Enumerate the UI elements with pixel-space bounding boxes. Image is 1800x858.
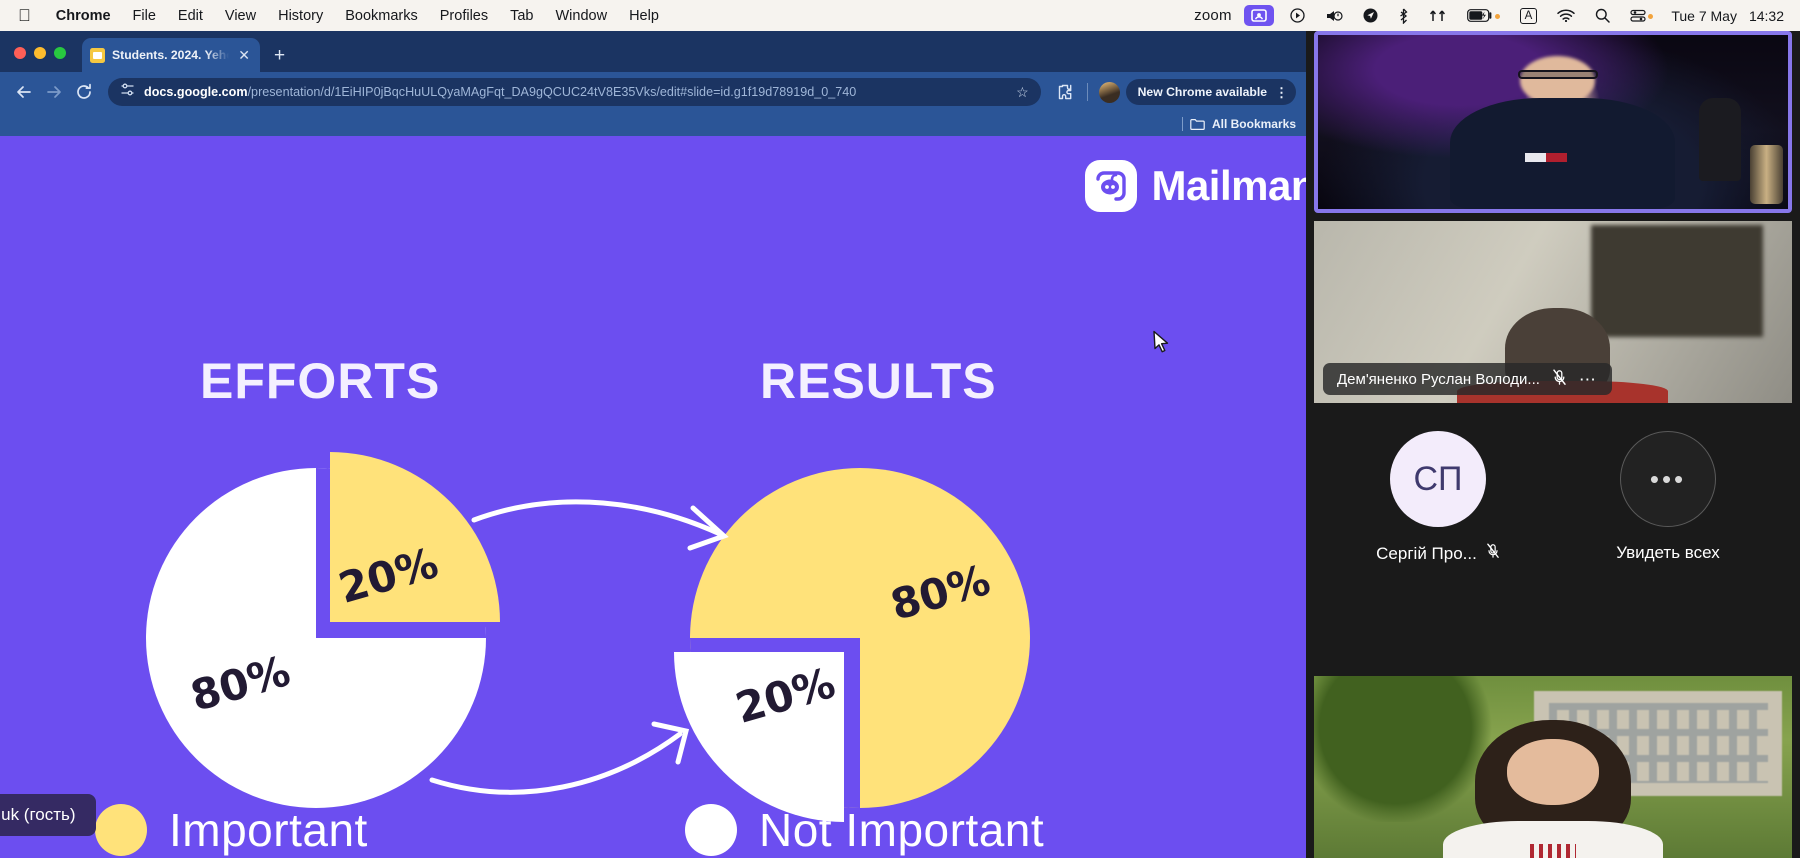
url-domain: docs.google.com [144, 85, 248, 99]
search-icon[interactable] [1585, 8, 1620, 23]
star-icon[interactable]: ☆ [1016, 84, 1029, 101]
mic-off-icon[interactable] [1552, 369, 1567, 390]
menu-bar-status-items: zoom A [1190, 5, 1790, 26]
arrow-back-icon[interactable] [10, 78, 38, 106]
menu-history[interactable]: History [267, 8, 334, 24]
input-source-icon[interactable]: A [1510, 8, 1548, 24]
zoom-see-all-button[interactable]: ••• Увидеть всех [1583, 431, 1753, 564]
screen-root:  Chrome File Edit View History Bookmark… [0, 0, 1800, 858]
see-all-label-row: Увидеть всех [1616, 543, 1719, 563]
status-dot [1495, 14, 1500, 19]
active-speaker-name-tag: symchuk (гость) [0, 794, 96, 836]
pie-chart-results [669, 468, 1030, 827]
menu-window[interactable]: Window [545, 8, 619, 24]
all-bookmarks-label: All Bookmarks [1212, 117, 1296, 131]
reload-icon[interactable] [70, 78, 98, 106]
new-tab-button[interactable]: + [274, 46, 285, 65]
menu-profiles[interactable]: Profiles [429, 8, 499, 24]
puzzle-icon[interactable] [1051, 78, 1079, 106]
clock[interactable]: Tue 7 May 14:32 [1663, 8, 1784, 24]
close-window-button[interactable] [14, 47, 26, 59]
arrow-forward-icon[interactable] [40, 78, 68, 106]
minimize-window-button[interactable] [34, 47, 46, 59]
browser-tab[interactable]: Students. 2024. Yehor Heras ✕ [82, 38, 260, 72]
screen-share-icon[interactable] [1244, 5, 1274, 26]
wifi-icon[interactable] [1547, 9, 1585, 22]
participant-name: Дем'яненко Руслан Володи... [1337, 371, 1540, 388]
chrome-window: Students. 2024. Yehor Heras ✕ + docs.goo… [0, 31, 1306, 858]
all-bookmarks-button[interactable]: All Bookmarks [1190, 117, 1296, 131]
more-dots-icon[interactable]: ••• [1620, 431, 1716, 527]
white-dot-icon [685, 804, 737, 856]
volume-icon[interactable] [1315, 9, 1353, 23]
bookmarks-bar: All Bookmarks [0, 112, 1306, 136]
menu-help[interactable]: Help [618, 8, 670, 24]
location-arrow-icon[interactable] [1353, 8, 1388, 23]
more-options-icon[interactable]: ⋯ [1579, 371, 1598, 388]
video-feed [1314, 676, 1792, 858]
control-center-icon[interactable] [1620, 9, 1663, 23]
url-text: docs.google.com/presentation/d/1EiHIP0jB… [144, 85, 1007, 99]
address-bar[interactable]: docs.google.com/presentation/d/1EiHIP0jB… [108, 78, 1041, 106]
tab-title: Students. 2024. Yehor Heras [112, 48, 229, 62]
menu-bookmarks[interactable]: Bookmarks [334, 8, 429, 24]
macos-menu-bar:  Chrome File Edit View History Bookmark… [0, 0, 1800, 31]
avatar-label-row: Сергій Про... [1376, 543, 1500, 564]
menu-tab[interactable]: Tab [499, 8, 544, 24]
arrow-top-right-icon [474, 502, 724, 548]
tab-strip: Students. 2024. Yehor Heras ✕ + [0, 31, 1306, 72]
zoom-tile-active-speaker[interactable] [1314, 31, 1792, 213]
record-circle-icon[interactable] [1280, 8, 1315, 23]
slide-canvas: Mailman EFFORTS RESULTS [0, 136, 1306, 858]
zoom-participant-sergii[interactable]: СП Сергій Про... [1353, 431, 1523, 564]
mouse-pointer-icon [1152, 330, 1172, 361]
participant-name: Сергій Про... [1376, 544, 1477, 564]
kebab-menu-icon[interactable]: ⋮ [1275, 86, 1288, 99]
close-icon[interactable]: ✕ [236, 48, 252, 62]
avatar-initials: СП [1390, 431, 1486, 527]
bookmarks-divider [1182, 117, 1183, 131]
slides-icon [90, 48, 105, 63]
pie-chart-efforts [146, 452, 505, 808]
menu-date: Tue 7 May [1671, 8, 1737, 24]
slide-viewport[interactable]: Mailman EFFORTS RESULTS [0, 136, 1306, 858]
pie-charts-graphic [0, 136, 1306, 858]
menu-edit[interactable]: Edit [167, 8, 214, 24]
zoom-avatar-row: СП Сергій Про... ••• Увидеть всех [1306, 431, 1800, 564]
window-controls [0, 47, 66, 72]
legend-label-important: Important [169, 803, 368, 857]
zoom-status-label[interactable]: zoom [1190, 7, 1243, 24]
see-all-label: Увидеть всех [1616, 543, 1719, 563]
participant-name-bar: Дем'яненко Руслан Володи... ⋯ [1323, 363, 1612, 395]
video-feed [1318, 35, 1788, 209]
url-path: /presentation/d/1EiHIP0jBqcHuULQyaMAgFqt… [248, 85, 857, 99]
apple-icon[interactable]:  [10, 7, 45, 24]
menu-chrome[interactable]: Chrome [45, 8, 122, 24]
toolbar-divider [1087, 83, 1088, 101]
status-dot [1648, 14, 1653, 19]
legend-item-not-important: Not Important [685, 803, 1044, 857]
browser-toolbar: docs.google.com/presentation/d/1EiHIP0jB… [0, 72, 1306, 112]
chrome-update-chip[interactable]: New Chrome available ⋮ [1126, 79, 1296, 105]
menu-file[interactable]: File [122, 8, 167, 24]
menu-bar-app-menus:  Chrome File Edit View History Bookmark… [10, 7, 670, 24]
bluetooth-icon[interactable] [1388, 8, 1419, 24]
arrow-bottom-right-icon [432, 724, 686, 792]
battery-charging-icon[interactable] [1457, 9, 1510, 22]
tune-icon[interactable] [120, 82, 135, 102]
menu-view[interactable]: View [214, 8, 267, 24]
zoom-tile-demyanenko[interactable]: Дем'яненко Руслан Володи... ⋯ [1314, 221, 1792, 403]
antenna-icon[interactable] [1419, 9, 1457, 23]
folder-icon [1190, 118, 1205, 131]
legend-item-important: Important [95, 803, 368, 857]
legend-label-not-important: Not Important [759, 803, 1044, 857]
menu-time: 14:32 [1749, 8, 1784, 24]
mic-off-icon[interactable] [1486, 543, 1500, 564]
zoom-tile-bottom[interactable] [1314, 676, 1792, 858]
yellow-dot-icon [95, 804, 147, 856]
maximize-window-button[interactable] [54, 47, 66, 59]
profile-avatar[interactable] [1096, 78, 1124, 106]
zoom-participants-panel: Дем'яненко Руслан Володи... ⋯ СП Сергій … [1306, 31, 1800, 858]
update-chip-label: New Chrome available [1138, 85, 1267, 99]
